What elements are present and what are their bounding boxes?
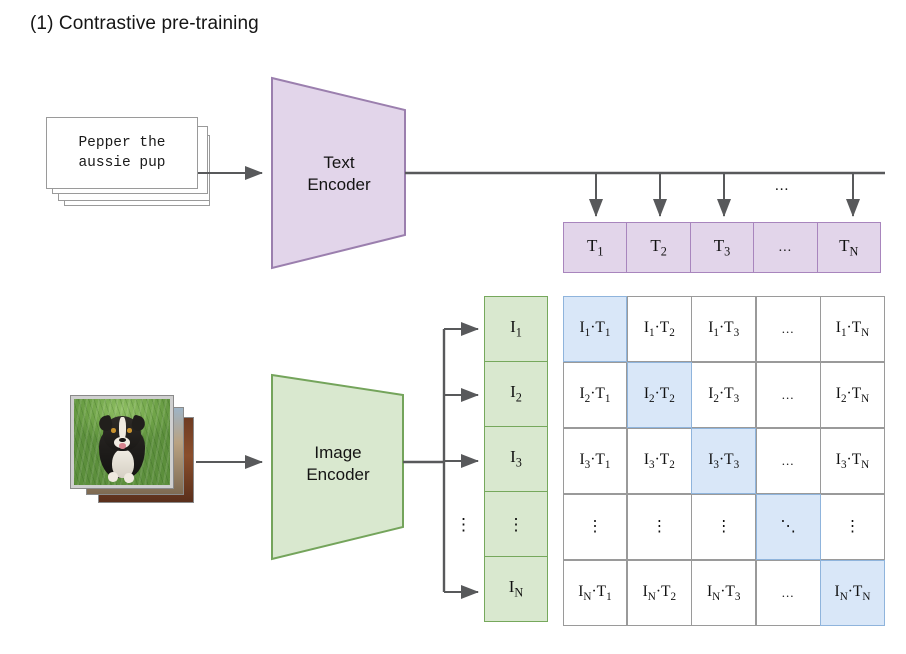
similarity-cell[interactable]: I2·TN: [820, 362, 885, 429]
text-embedding-row: T1T2T3...TN: [563, 222, 881, 273]
vdots-glyph: ⋮: [716, 517, 732, 536]
vdots-glyph: ⋮: [652, 517, 668, 536]
text-caption-stack: Pepper the aussie pup: [46, 117, 228, 221]
similarity-label: I2·T3: [708, 385, 739, 405]
t-embedding-cell[interactable]: T3: [690, 222, 754, 273]
similarity-cell[interactable]: IN·T3: [691, 560, 756, 627]
t-embedding-cell-ellipsis[interactable]: ...: [753, 222, 817, 273]
figure-title: (1) Contrastive pre-training: [30, 13, 259, 35]
text-encoder-shape: [268, 72, 410, 274]
caption-card-front: Pepper the aussie pup: [46, 117, 198, 189]
ddots-glyph: ⋱: [780, 517, 796, 536]
similarity-cell-hdots[interactable]: ...: [756, 296, 821, 363]
t-embedding-cell[interactable]: T2: [626, 222, 690, 273]
similarity-cell[interactable]: I2·T2: [627, 362, 692, 429]
ellipsis-glyph: ...: [782, 387, 795, 403]
i-embedding-label: IN: [509, 577, 524, 600]
similarity-label: I2·T1: [579, 385, 610, 405]
similarity-cell-vdots[interactable]: ⋮: [820, 494, 885, 561]
similarity-cell[interactable]: IN·TN: [820, 560, 885, 627]
similarity-cell[interactable]: I1·T2: [627, 296, 692, 363]
similarity-cell[interactable]: IN·T1: [563, 560, 628, 627]
similarity-label: I3·T2: [644, 451, 675, 471]
image-embedding-column: I1I2I3⋮IN: [484, 296, 548, 622]
image-thumbnail-stack: [70, 395, 200, 507]
dog-eye-right: [127, 428, 132, 432]
similarity-cell-vdots[interactable]: ⋮: [563, 494, 628, 561]
image-encoder-block: Image Encoder: [268, 370, 408, 564]
i-embedding-cell[interactable]: I2: [484, 361, 548, 427]
similarity-label: IN·T1: [578, 583, 611, 603]
figure-canvas: (1) Contrastive pre-training Pepper the …: [0, 0, 906, 654]
t-bus-ellipsis: ...: [775, 178, 789, 195]
t-embedding-label: T3: [714, 236, 731, 259]
dog-tongue: [119, 443, 126, 449]
similarity-cell-vdots[interactable]: ⋮: [627, 494, 692, 561]
similarity-cell[interactable]: I2·T1: [563, 362, 628, 429]
caption-text: Pepper the aussie pup: [78, 133, 165, 173]
similarity-cell-hdots[interactable]: ...: [756, 362, 821, 429]
similarity-label: I1·TN: [836, 319, 869, 339]
similarity-label: I3·TN: [836, 451, 869, 471]
text-encoder-block: Text Encoder: [268, 72, 410, 274]
similarity-matrix: I1·T1I1·T2I1·T3...I1·TNI2·T1I2·T2I2·T3..…: [563, 296, 885, 626]
similarity-cell[interactable]: I2·T3: [691, 362, 756, 429]
i-embedding-label: I3: [510, 447, 522, 470]
similarity-label: I2·T2: [644, 385, 675, 405]
similarity-label: I1·T1: [579, 319, 610, 339]
vdots-glyph: ⋮: [845, 517, 861, 536]
similarity-label: I3·T3: [708, 451, 739, 471]
dog-eye-left: [111, 428, 116, 432]
ellipsis-glyph: ...: [782, 453, 795, 469]
similarity-label: I1·T2: [644, 319, 675, 339]
dog-nose: [119, 438, 126, 442]
image-encoder-shape: [268, 370, 408, 564]
t-embedding-label: T2: [650, 236, 667, 259]
t-embedding-label: T1: [587, 236, 604, 259]
ellipsis-glyph: ...: [779, 240, 793, 256]
similarity-cell[interactable]: I3·T3: [691, 428, 756, 495]
image-thumb-front: [70, 395, 174, 489]
vdots-glyph: ⋮: [587, 517, 603, 536]
similarity-cell[interactable]: I3·T1: [563, 428, 628, 495]
ellipsis-glyph: ...: [782, 321, 795, 337]
similarity-cell[interactable]: IN·T2: [627, 560, 692, 627]
similarity-cell[interactable]: I1·T1: [563, 296, 628, 363]
ellipsis-glyph: ...: [782, 585, 795, 601]
t-embedding-cell[interactable]: T1: [563, 222, 627, 273]
i-embedding-label: I2: [510, 382, 522, 405]
t-embedding-cell[interactable]: TN: [817, 222, 881, 273]
i-embedding-cell[interactable]: I3: [484, 426, 548, 492]
similarity-cell[interactable]: I1·TN: [820, 296, 885, 363]
similarity-cell-hdots[interactable]: ...: [756, 428, 821, 495]
similarity-label: I2·TN: [836, 385, 869, 405]
similarity-label: I3·T1: [579, 451, 610, 471]
t-embedding-label: TN: [839, 236, 858, 259]
i-embedding-cell[interactable]: I1: [484, 296, 548, 362]
i-embedding-label: I1: [510, 317, 522, 340]
similarity-label: I1·T3: [708, 319, 739, 339]
i-embedding-cell-ellipsis[interactable]: ⋮: [484, 491, 548, 557]
similarity-label: IN·TN: [835, 583, 871, 603]
image-bus-vdots: ⋮: [455, 515, 472, 535]
i-embedding-cell[interactable]: IN: [484, 556, 548, 622]
vdots-glyph: ⋮: [508, 516, 525, 533]
similarity-label: IN·T3: [707, 583, 740, 603]
similarity-cell-ddots[interactable]: ⋱: [756, 494, 821, 561]
similarity-cell[interactable]: I3·TN: [820, 428, 885, 495]
similarity-cell[interactable]: I3·T2: [627, 428, 692, 495]
similarity-cell-vdots[interactable]: ⋮: [691, 494, 756, 561]
puppy-photo: [74, 399, 170, 485]
similarity-cell[interactable]: I1·T3: [691, 296, 756, 363]
similarity-cell-hdots[interactable]: ...: [756, 560, 821, 627]
similarity-label: IN·T2: [643, 583, 676, 603]
